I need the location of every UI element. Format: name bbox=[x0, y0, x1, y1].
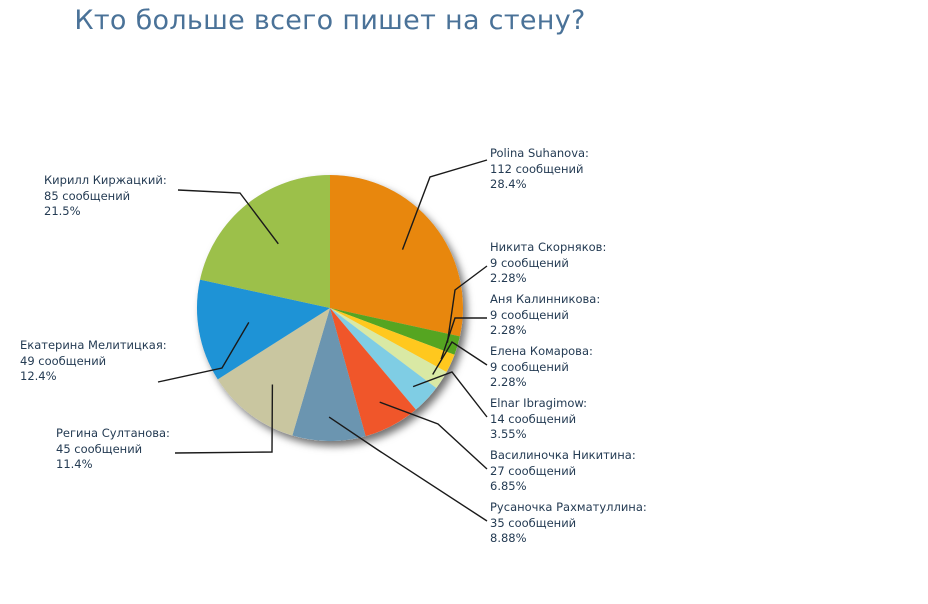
callout-count: 112 сообщений bbox=[490, 162, 589, 178]
callout-count: 9 сообщений bbox=[490, 360, 593, 376]
callout-nikita: Никита Скорняков: 9 сообщений 2.28% bbox=[490, 240, 606, 287]
callout-percent: 3.55% bbox=[490, 427, 587, 443]
chart-page: Кто больше всего пишет на стену? Polina … bbox=[0, 0, 928, 604]
callout-percent: 2.28% bbox=[490, 375, 593, 391]
callout-name: Elnar Ibragimow: bbox=[490, 396, 587, 412]
pie-slices-group bbox=[197, 175, 463, 441]
callout-name: Никита Скорняков: bbox=[490, 240, 606, 256]
callout-name: Аня Калинникова: bbox=[490, 292, 600, 308]
callout-count: 45 сообщений bbox=[56, 442, 170, 458]
callout-count: 9 сообщений bbox=[490, 308, 600, 324]
callout-name: Русаночка Рахматуллина: bbox=[490, 500, 647, 516]
legend-clip: Polina Suhanova (112 сообщений)Кирилл Ки… bbox=[662, 55, 928, 357]
callout-name: Регина Султанова: bbox=[56, 426, 170, 442]
callout-elnar: Elnar Ibragimow: 14 сообщений 3.55% bbox=[490, 396, 587, 443]
callout-percent: 28.4% bbox=[490, 177, 589, 193]
callout-percent: 11.4% bbox=[56, 457, 170, 473]
callout-count: 9 сообщений bbox=[490, 256, 606, 272]
callout-name: Кирилл Киржацкий: bbox=[44, 173, 167, 189]
callout-name: Екатерина Мелитицкая: bbox=[20, 338, 167, 354]
callout-ekaterina: Екатерина Мелитицкая: 49 сообщений 12.4% bbox=[20, 338, 167, 385]
callout-anya: Аня Калинникова: 9 сообщений 2.28% bbox=[490, 292, 600, 339]
callout-percent: 2.28% bbox=[490, 271, 606, 287]
callout-elena: Елена Комарова: 9 сообщений 2.28% bbox=[490, 344, 593, 391]
callout-name: Polina Suhanova: bbox=[490, 146, 589, 162]
callout-regina: Регина Султанова: 45 сообщений 11.4% bbox=[56, 426, 170, 473]
callout-rusanochka: Русаночка Рахматуллина: 35 сообщений 8.8… bbox=[490, 500, 647, 547]
callout-count: 85 сообщений bbox=[44, 189, 167, 205]
callout-count: 49 сообщений bbox=[20, 354, 167, 370]
callout-kirill: Кирилл Киржацкий: 85 сообщений 21.5% bbox=[44, 173, 167, 220]
callout-percent: 2.28% bbox=[490, 323, 600, 339]
leader-line bbox=[329, 417, 487, 521]
callout-count: 35 сообщений bbox=[490, 516, 647, 532]
callout-percent: 8.88% bbox=[490, 531, 647, 547]
callout-vasilinochka: Василиночка Никитина: 27 сообщений 6.85% bbox=[490, 448, 636, 495]
callout-polina: Polina Suhanova: 112 сообщений 28.4% bbox=[490, 146, 589, 193]
callout-name: Василиночка Никитина: bbox=[490, 448, 636, 464]
callout-count: 14 сообщений bbox=[490, 412, 587, 428]
pie-slice[interactable] bbox=[330, 175, 463, 336]
callout-percent: 12.4% bbox=[20, 369, 167, 385]
callout-name: Елена Комарова: bbox=[490, 344, 593, 360]
callout-count: 27 сообщений bbox=[490, 464, 636, 480]
callout-percent: 21.5% bbox=[44, 204, 167, 220]
callout-percent: 6.85% bbox=[490, 479, 636, 495]
